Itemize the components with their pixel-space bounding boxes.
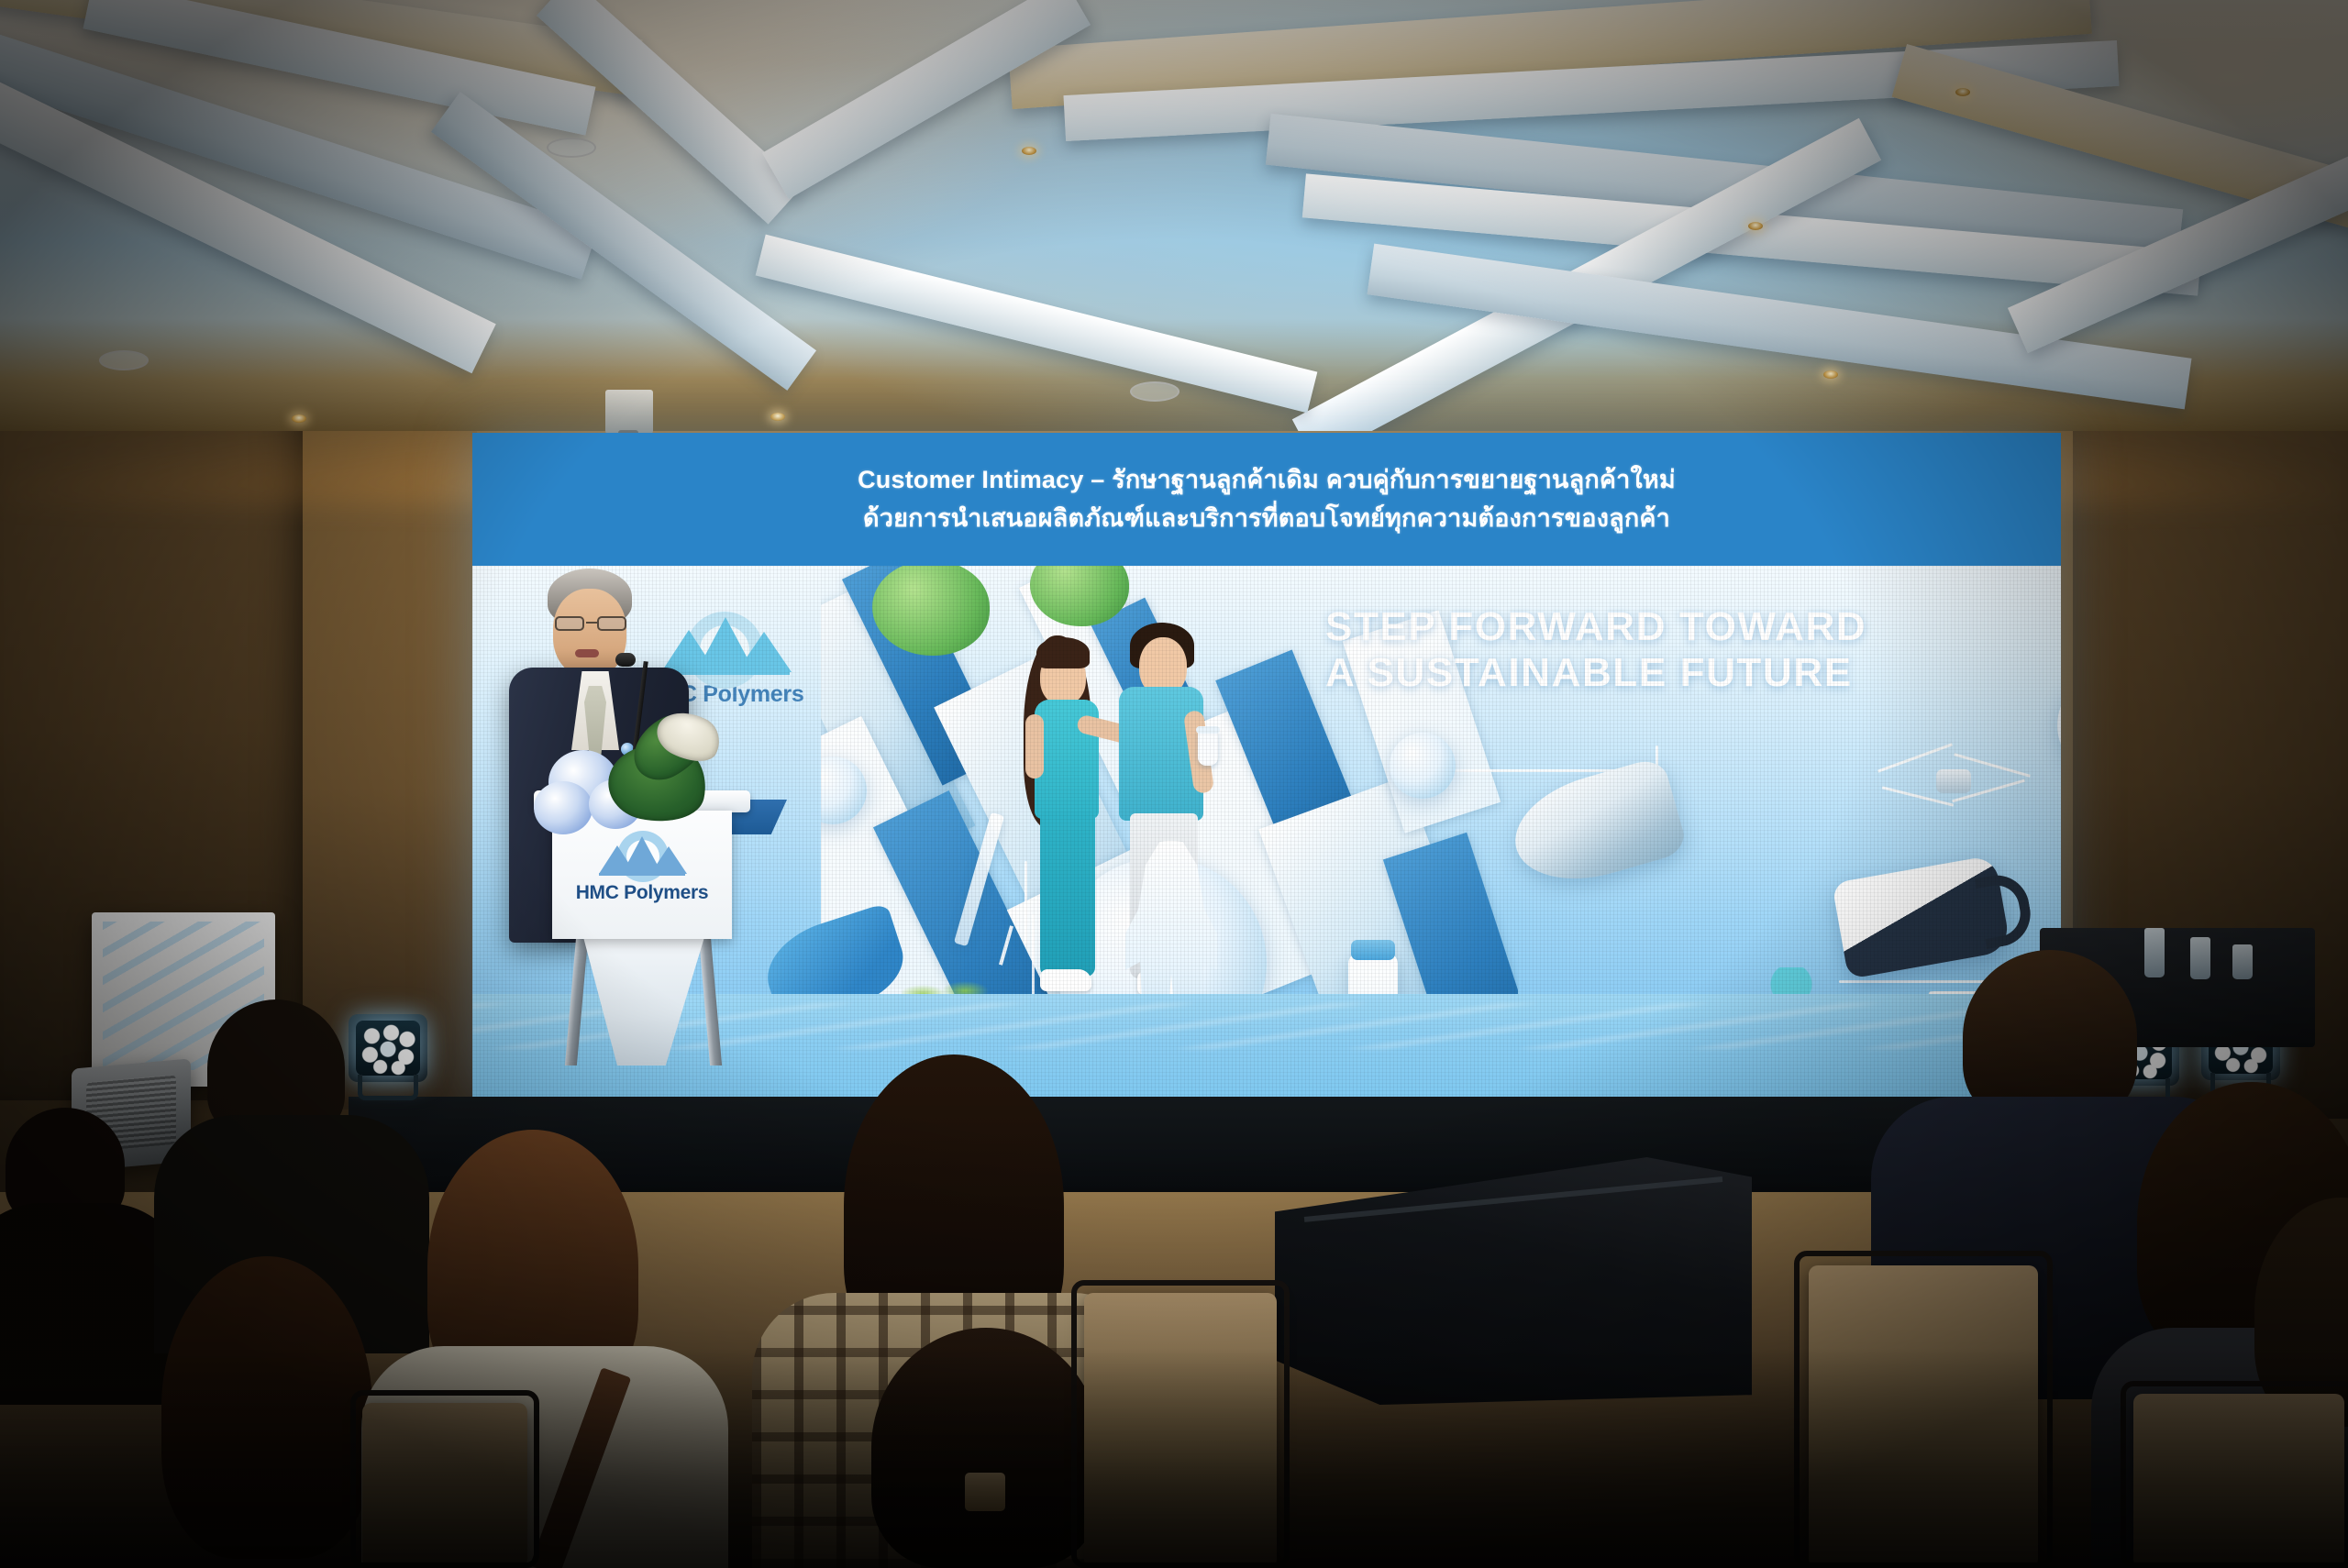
sphere-icon [1390,733,1456,799]
drone-rotor-arm-icon [1877,743,1953,772]
ceiling-downlight [1823,370,1838,379]
podium-lectern: HMC Polymers [550,790,743,1066]
drone-icon [1936,769,1971,793]
audience-chair-frame [1794,1251,2053,1568]
slide-title-banner: Customer Intimacy – รักษาฐานลูกค้าเดิม ค… [472,433,2061,566]
ceiling-vent [1130,381,1180,402]
sphere-icon [2057,674,2061,777]
audience-chair-frame [350,1390,539,1568]
decor-rule [1024,861,1027,944]
ceiling-vent [547,138,596,158]
podium-leg [699,937,722,1066]
conference-stage-scene: Customer Intimacy – รักษาฐานลูกค้าเดิม ค… [0,0,2348,1568]
hmc-mountain-sun-icon [597,831,687,877]
ceiling-downlight [292,414,306,423]
ceiling-downlight [1748,222,1763,230]
microphone-icon [615,653,636,667]
hydrangea-icon [534,781,593,834]
podium-leg [565,937,588,1066]
speaker-mouth [575,649,599,657]
slide-headline-line-1: STEP FORWARD TOWARD [1325,604,1958,650]
ceiling-projector-mount [605,390,653,434]
ceiling-downlight [1022,147,1036,155]
speaker-head [553,589,626,677]
ceiling-downlight [770,413,785,421]
ceiling-downlight [1955,88,1970,96]
audience-chair-frame [2121,1381,2348,1568]
podium-body [583,937,704,1066]
coffee-cup-icon [1198,731,1218,766]
coffered-ceiling [0,0,2348,431]
car-part-icon [1503,756,1689,896]
audience-chair-frame [1071,1280,1290,1568]
slide-headline-line-2: A SUSTAINABLE FUTURE [1325,650,1958,696]
podium-wordmark: HMC Polymers [552,882,732,904]
slide-title-line-2: ด้วยการนำเสนอผลิตภัณฑ์และบริการที่ตอบโจท… [472,493,2061,532]
podium-flower-arrangement [539,734,714,816]
ceiling-vent [99,350,149,370]
tree-icon [872,566,990,656]
water-bottle-cap-icon [1351,940,1395,960]
slide-title-line-1: Customer Intimacy – รักษาฐานลูกค้าเดิม ค… [472,433,2061,493]
hair-clip-icon [965,1473,1005,1511]
eyeglasses-icon [553,616,628,631]
slide-headline: STEP FORWARD TOWARD A SUSTAINABLE FUTURE [1325,604,1958,696]
